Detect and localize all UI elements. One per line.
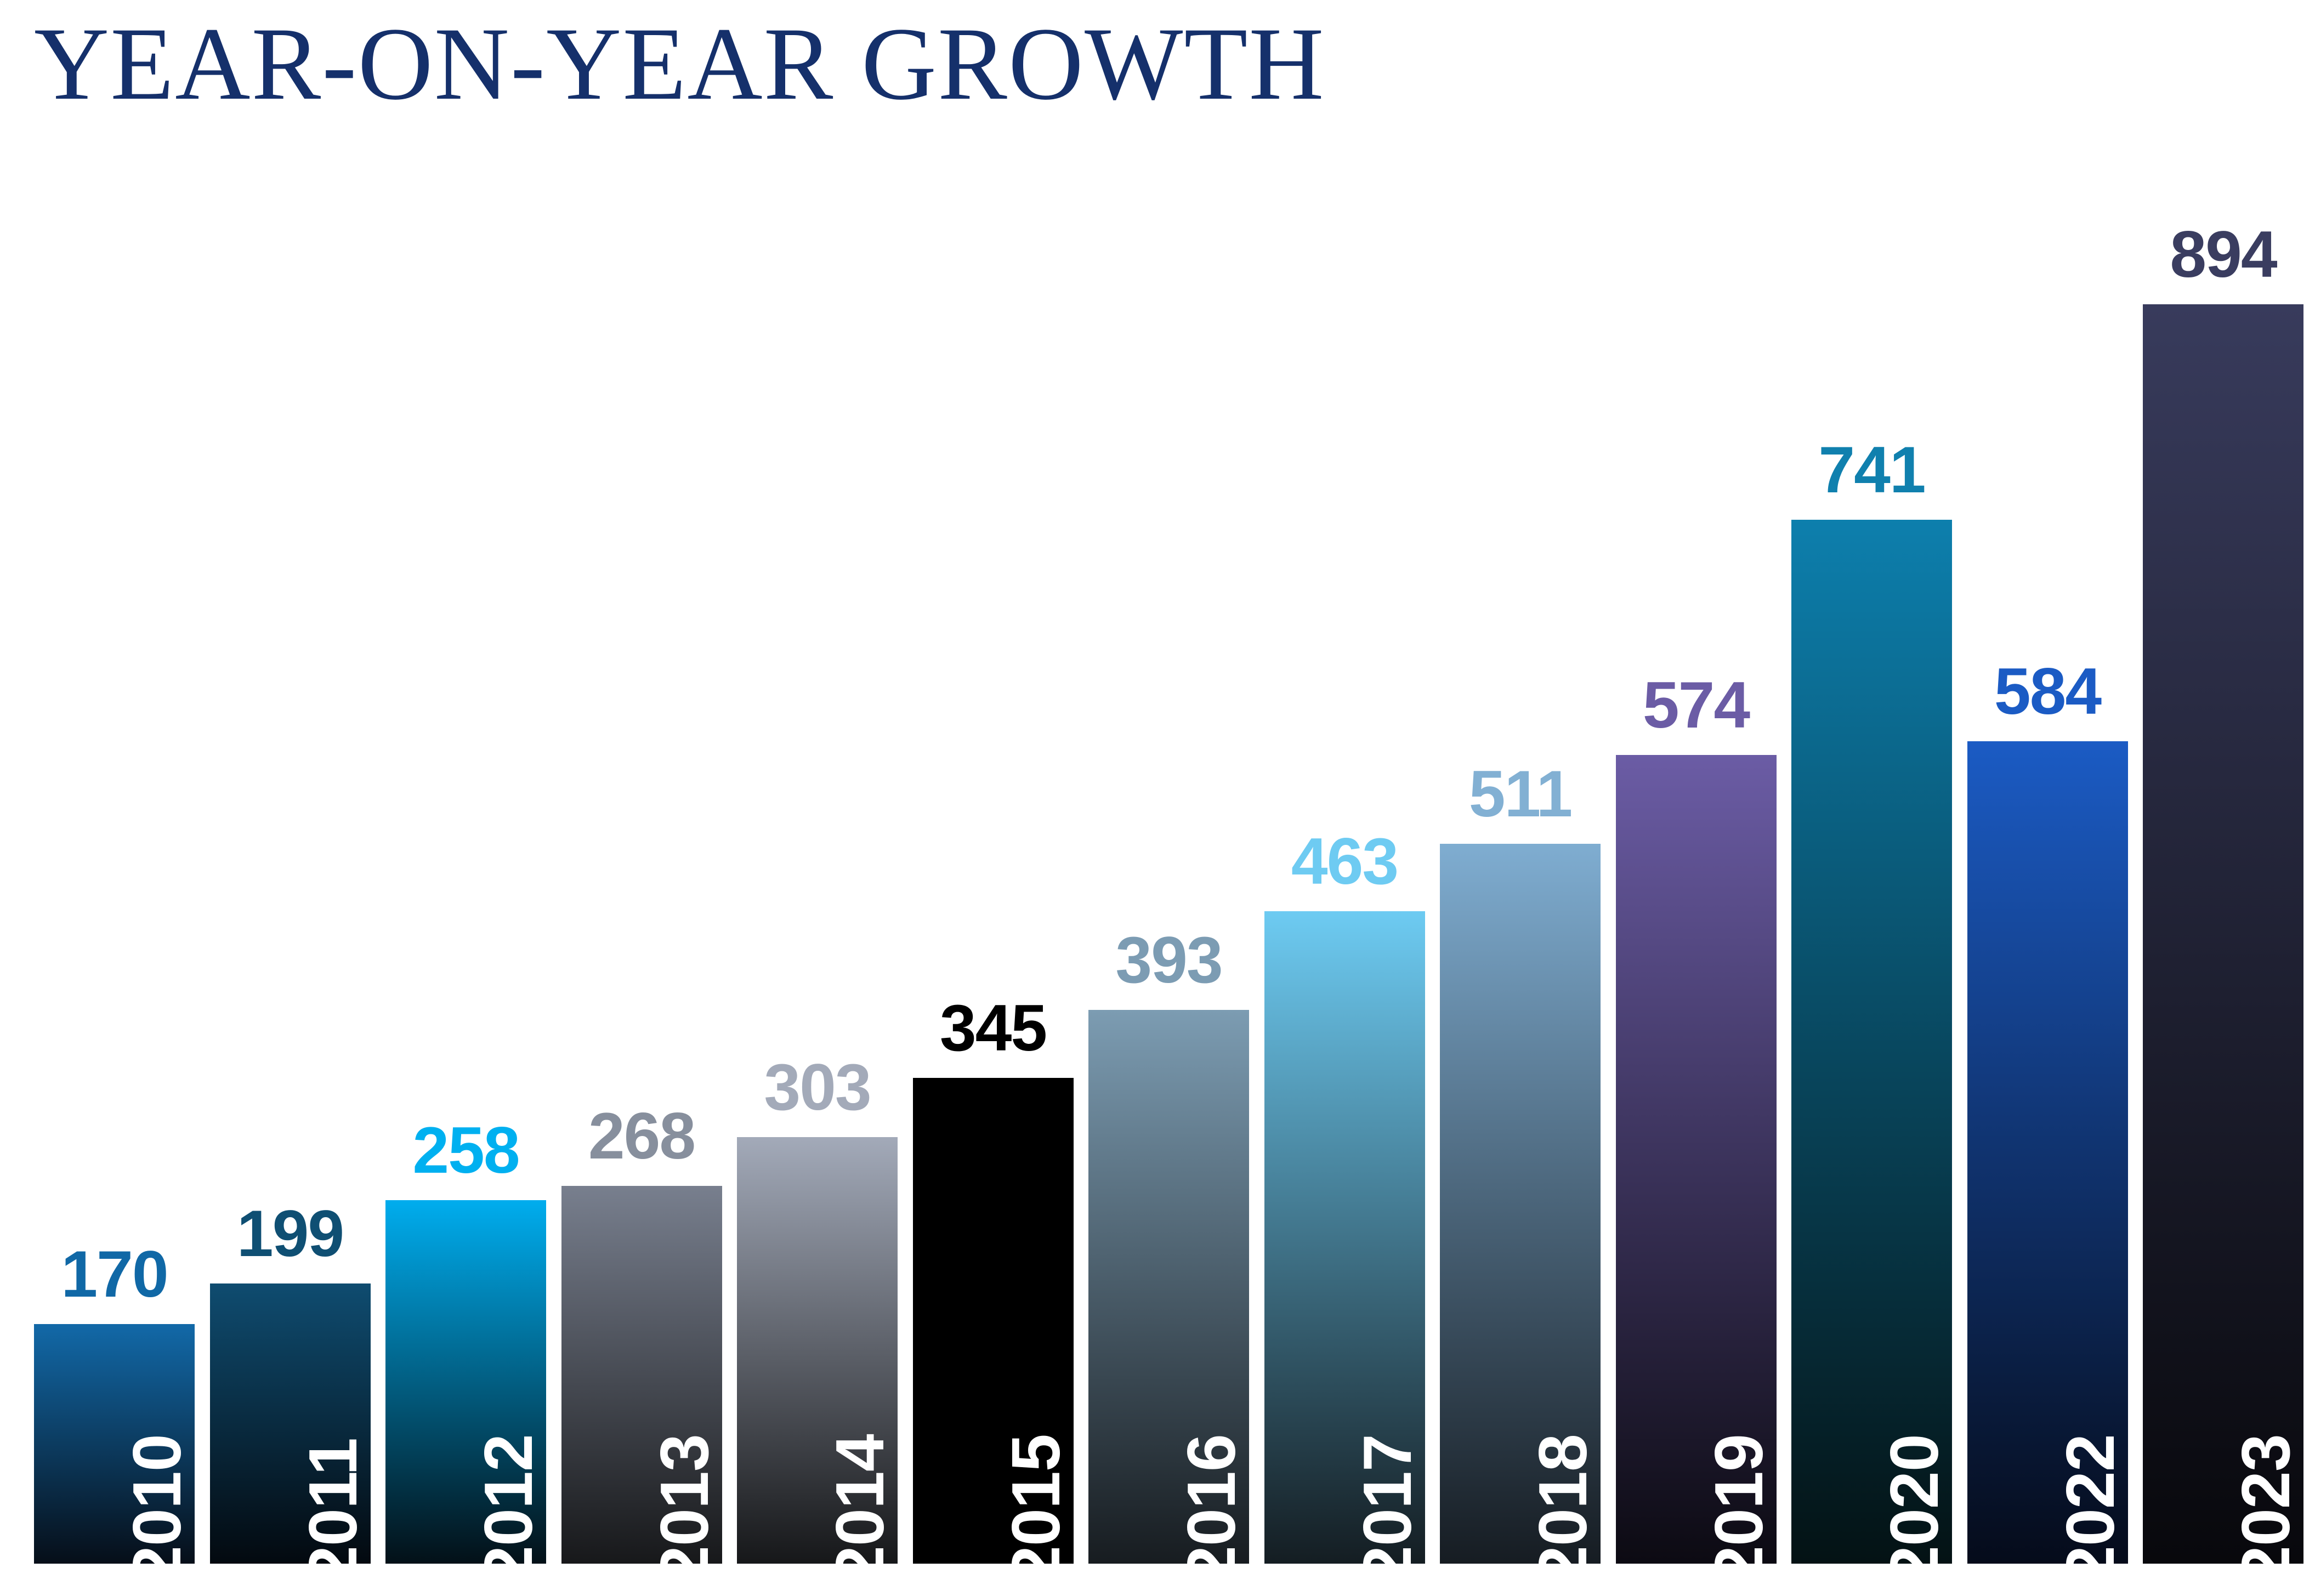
bar-year-label-2020: 2020: [1881, 1434, 1949, 1583]
bar-value-label-2022: 584: [1967, 654, 2128, 729]
bar-value-label-2015: 345: [913, 990, 1074, 1066]
bar-year-label-2022: 2022: [2057, 1434, 2125, 1583]
bar-year-label-2012: 2012: [475, 1434, 543, 1583]
bar-year-label-2015: 2015: [1002, 1434, 1070, 1583]
bar-year-label-2010: 2010: [123, 1434, 191, 1583]
bar-group-2014: 3032014: [737, 1027, 898, 1564]
bar-year-label-2023: 2023: [2232, 1434, 2300, 1583]
bar-value-label-2012: 258: [385, 1112, 546, 1188]
bar-year-label-2014: 2014: [826, 1434, 894, 1583]
bar-group-2010: 1702010: [34, 1214, 195, 1564]
bar-year-label-2017: 2017: [1354, 1434, 1422, 1583]
bar-group-2023: 8942023: [2143, 195, 2303, 1564]
bar-year-label-2016: 2016: [1178, 1434, 1246, 1583]
bar-year-label-2019: 2019: [1705, 1434, 1773, 1583]
bar-year-label-2018: 2018: [1529, 1434, 1597, 1583]
bar-group-2017: 4632017: [1264, 802, 1425, 1564]
bar-value-label-2020: 741: [1791, 432, 1952, 508]
bar-value-label-2019: 574: [1616, 667, 1777, 743]
bar-chart-plot-area: 1702010199201125820122682013303201434520…: [0, 0, 2315, 1596]
bar-value-label-2011: 199: [210, 1196, 371, 1271]
bar-group-2012: 2582012: [385, 1090, 546, 1564]
bar-group-2016: 3932016: [1088, 900, 1249, 1564]
bar-value-label-2016: 393: [1088, 922, 1249, 998]
bar-group-2019: 5742019: [1616, 645, 1777, 1564]
bar-year-label-2011: 2011: [299, 1438, 367, 1583]
bar-value-label-2023: 894: [2143, 217, 2303, 292]
bar-2020[interactable]: [1791, 520, 1952, 1564]
bar-group-2018: 5112018: [1440, 734, 1601, 1564]
bar-2023[interactable]: [2143, 304, 2303, 1564]
bar-value-label-2018: 511: [1440, 756, 1601, 832]
bar-year-label-2013: 2013: [651, 1434, 719, 1583]
bar-group-2020: 7412020: [1791, 410, 1952, 1564]
bar-group-2015: 3452015: [913, 968, 1074, 1564]
bar-group-2022: 5842022: [1967, 632, 2128, 1564]
bar-value-label-2014: 303: [737, 1049, 898, 1125]
bar-value-label-2013: 268: [561, 1098, 722, 1174]
bar-group-2013: 2682013: [561, 1076, 722, 1564]
bar-value-label-2017: 463: [1264, 823, 1425, 899]
bar-group-2011: 1992011: [210, 1174, 371, 1564]
bar-value-label-2010: 170: [34, 1236, 195, 1312]
